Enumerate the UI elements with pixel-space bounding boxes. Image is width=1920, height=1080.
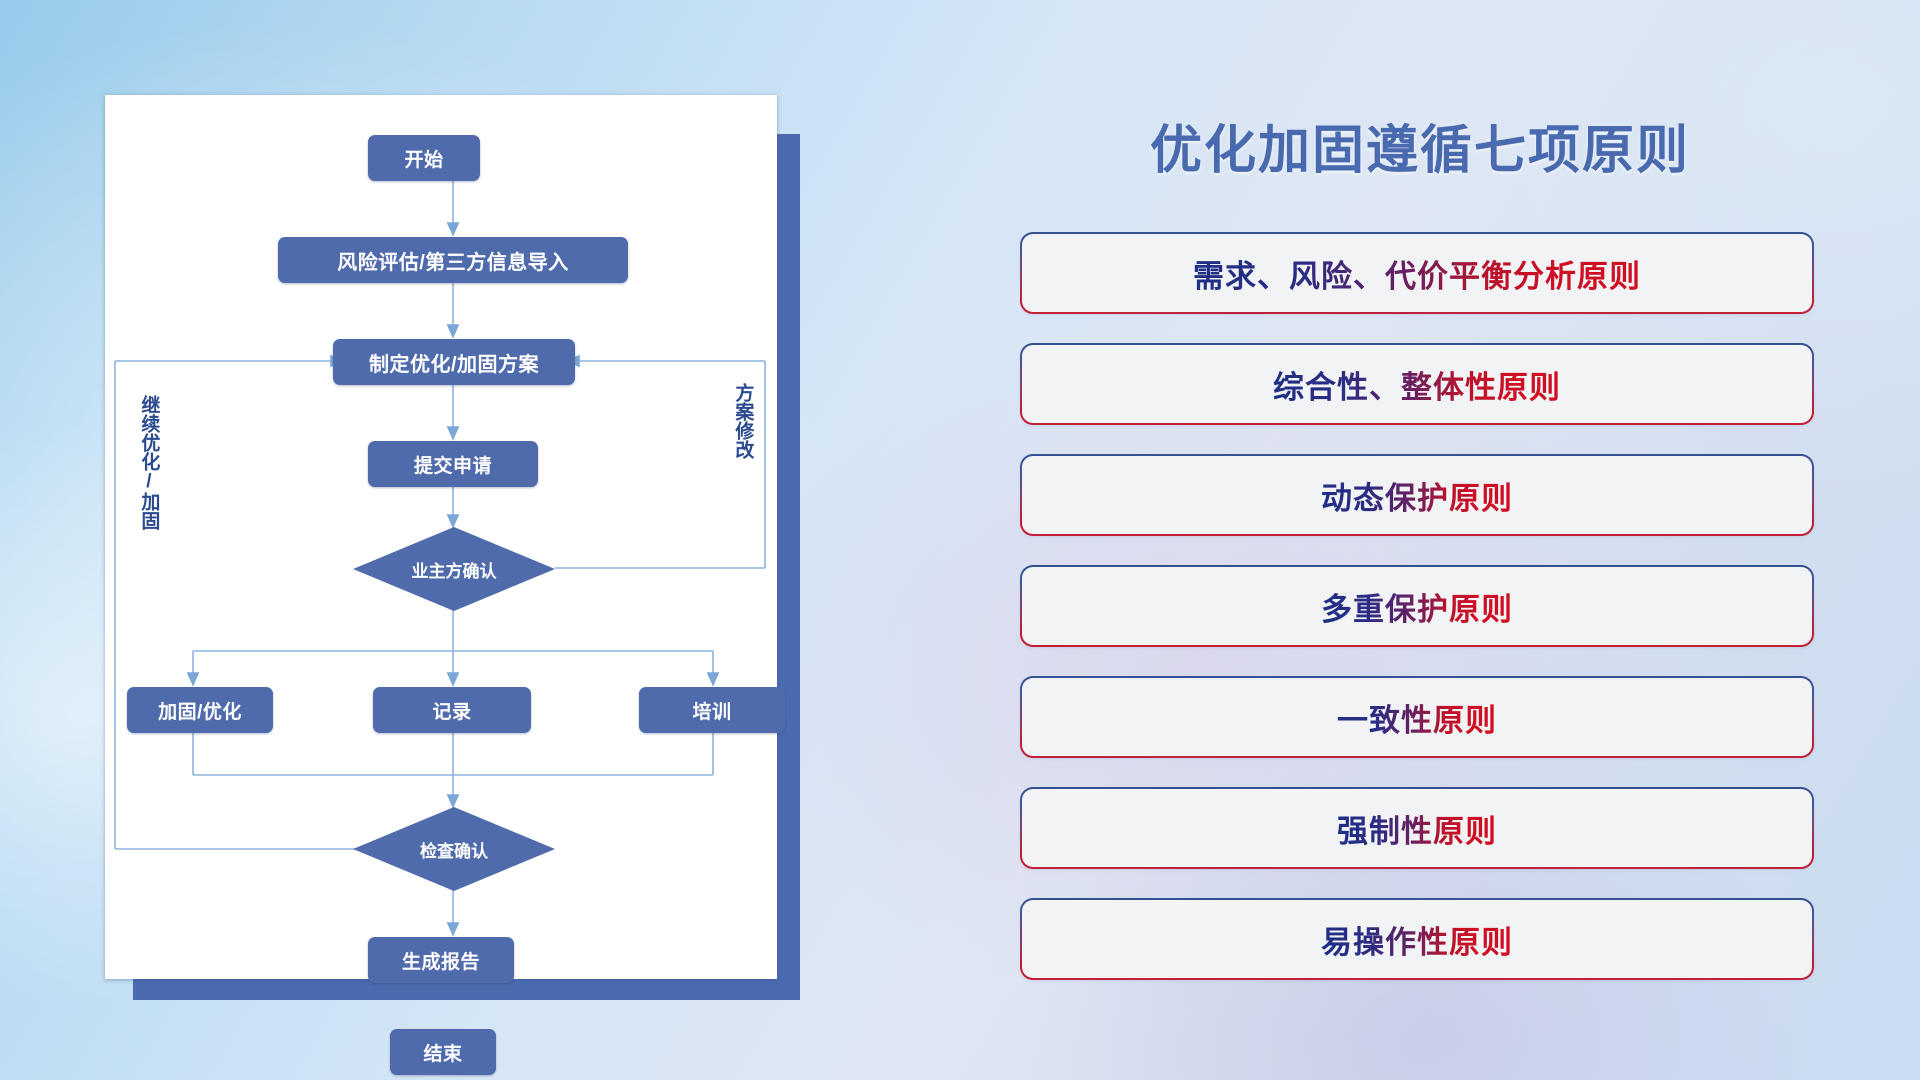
principle-item[interactable]: 多重保护原则 bbox=[1022, 567, 1812, 645]
principles-list: 需求、风险、代价平衡分析原则 综合性、整体性原则 动态保护原则 多重保护原则 一… bbox=[1022, 234, 1812, 1011]
principle-item[interactable]: 动态保护原则 bbox=[1022, 456, 1812, 534]
principle-label: 一致性原则 bbox=[1337, 695, 1497, 740]
flow-node-label: 制定优化/加固方案 bbox=[369, 348, 539, 377]
flow-node-plan[interactable]: 制定优化/加固方案 bbox=[333, 339, 575, 385]
principle-item[interactable]: 强制性原则 bbox=[1022, 789, 1812, 867]
flow-node-training[interactable]: 培训 bbox=[639, 687, 785, 733]
flow-node-owner-confirm[interactable]: 业主方确认 bbox=[353, 527, 555, 611]
principle-item[interactable]: 综合性、整体性原则 bbox=[1022, 345, 1812, 423]
flow-node-record[interactable]: 记录 bbox=[373, 687, 531, 733]
flowchart-canvas: 开始 风险评估/第三方信息导入 制定优化/加固方案 提交申请 业主方确认 加固/… bbox=[105, 95, 777, 979]
flow-node-label: 业主方确认 bbox=[412, 557, 497, 582]
principle-label: 动态保护原则 bbox=[1321, 473, 1513, 518]
slide-root: 开始 风险评估/第三方信息导入 制定优化/加固方案 提交申请 业主方确认 加固/… bbox=[0, 0, 1920, 1080]
principle-label: 综合性、整体性原则 bbox=[1273, 362, 1561, 407]
principle-label: 多重保护原则 bbox=[1321, 584, 1513, 629]
flow-node-label: 生成报告 bbox=[402, 947, 480, 974]
principle-label: 易操作性原则 bbox=[1321, 917, 1513, 962]
flow-node-label: 培训 bbox=[692, 697, 731, 724]
page-title: 优化加固遵循七项原则 bbox=[1150, 108, 1690, 183]
principle-label: 强制性原则 bbox=[1337, 806, 1497, 851]
flow-node-label: 风险评估/第三方信息导入 bbox=[337, 246, 569, 275]
flow-node-reinforce[interactable]: 加固/优化 bbox=[127, 687, 273, 733]
flow-node-start[interactable]: 开始 bbox=[368, 135, 480, 181]
flow-node-label: 结束 bbox=[423, 1039, 462, 1066]
principle-label: 需求、风险、代价平衡分析原则 bbox=[1193, 251, 1641, 296]
flow-node-label: 记录 bbox=[432, 697, 471, 724]
flowchart-card: 开始 风险评估/第三方信息导入 制定优化/加固方案 提交申请 业主方确认 加固/… bbox=[105, 95, 777, 979]
flow-node-label: 提交申请 bbox=[414, 451, 492, 478]
flow-node-label: 检查确认 bbox=[420, 837, 488, 862]
flow-node-label: 开始 bbox=[404, 145, 443, 172]
flow-node-risk-assessment[interactable]: 风险评估/第三方信息导入 bbox=[278, 237, 628, 283]
flow-node-check-confirm[interactable]: 检查确认 bbox=[353, 807, 555, 891]
principle-item[interactable]: 易操作性原则 bbox=[1022, 900, 1812, 978]
flow-node-label: 加固/优化 bbox=[158, 697, 242, 724]
principle-item[interactable]: 需求、风险、代价平衡分析原则 bbox=[1022, 234, 1812, 312]
edge-label-plan-revision: 方案修改 bbox=[733, 383, 752, 459]
edge-label-continue-optimize: 继续优化/加固 bbox=[139, 395, 158, 530]
principle-item[interactable]: 一致性原则 bbox=[1022, 678, 1812, 756]
flow-node-generate-report[interactable]: 生成报告 bbox=[368, 937, 514, 983]
flow-node-submit-application[interactable]: 提交申请 bbox=[368, 441, 538, 487]
flow-node-end[interactable]: 结束 bbox=[390, 1029, 496, 1075]
